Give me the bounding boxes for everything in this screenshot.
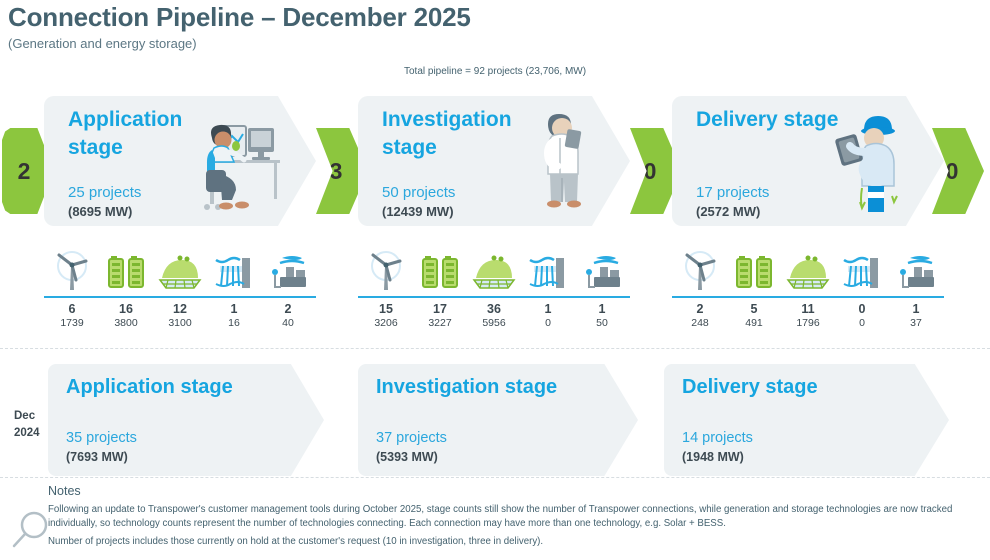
hydro-dam-icon <box>212 250 256 292</box>
tech-cell: 1 50 <box>580 302 624 329</box>
tech-count: 16 <box>104 302 148 316</box>
tech-count: 1 <box>894 302 938 316</box>
stage-card-investigation: Investigation stage 50 projects (12439 M… <box>358 96 630 226</box>
tech-count: 12 <box>158 302 202 316</box>
prior-title-investigation: Investigation stage <box>376 376 557 399</box>
tech-mw: 0 <box>526 317 570 329</box>
tech-mw: 40 <box>266 317 310 329</box>
tech-cell: 1 16 <box>212 302 256 329</box>
prior-projects-application: 35 projects <box>66 430 137 446</box>
stage-mw-delivery: (2572 MW) <box>696 204 760 219</box>
total-pipeline-label: Total pipeline = 92 projects (23,706, MW… <box>404 66 586 77</box>
chevron-delivery-complete: 0 <box>932 128 984 214</box>
page-subtitle: (Generation and energy storage) <box>8 36 197 51</box>
tech-count: 2 <box>266 302 310 316</box>
person-with-clipboard-icon <box>504 108 610 218</box>
stage-mw-investigation: (12439 MW) <box>382 204 454 219</box>
stage-projects-delivery: 17 projects <box>696 184 769 201</box>
section-divider-top <box>0 348 990 349</box>
technology-icons-investigation <box>358 248 630 292</box>
technology-rule <box>672 296 944 298</box>
tech-count: 2 <box>678 302 722 316</box>
tech-mw: 5956 <box>472 317 516 329</box>
tech-cell: 16 3800 <box>104 302 148 329</box>
prior-card-delivery: Delivery stage 14 projects (1948 MW) <box>664 364 949 476</box>
chevron-1-value: 3 <box>330 158 343 185</box>
stage-projects-investigation: 50 projects <box>382 184 455 201</box>
hydro-dam-icon <box>840 250 884 292</box>
tech-mw: 50 <box>580 317 624 329</box>
tech-count: 1 <box>580 302 624 316</box>
stage-card-application: Application stage 25 projects (8695 MW) <box>44 96 316 226</box>
tech-cell: 1 37 <box>894 302 938 329</box>
tech-count: 1 <box>526 302 570 316</box>
chevron-3-value: 0 <box>946 158 959 185</box>
prior-mw-investigation: (5393 MW) <box>376 450 438 464</box>
technology-row-investigation: 15 3206 17 3227 36 5956 1 0 1 50 <box>358 248 630 326</box>
technology-values-application: 6 1739 16 3800 12 3100 1 16 2 40 <box>44 302 316 329</box>
battery-storage-icon <box>732 250 776 292</box>
tech-cell: 0 0 <box>840 302 884 329</box>
prior-card-application: Application stage 35 projects (7693 MW) <box>48 364 324 476</box>
geothermal-plant-icon <box>894 250 938 292</box>
prior-mw-application: (7693 MW) <box>66 450 128 464</box>
prior-card-investigation: Investigation stage 37 projects (5393 MW… <box>358 364 638 476</box>
tech-count: 11 <box>786 302 830 316</box>
tech-mw: 3800 <box>104 317 148 329</box>
tech-cell: 12 3100 <box>158 302 202 329</box>
tech-cell: 1 0 <box>526 302 570 329</box>
technology-values-delivery: 2 248 5 491 11 1796 0 0 1 37 <box>672 302 944 329</box>
stage-mw-application: (8695 MW) <box>68 204 132 219</box>
tech-mw: 0 <box>840 317 884 329</box>
technology-values-investigation: 15 3206 17 3227 36 5956 1 0 1 50 <box>358 302 630 329</box>
notes-title: Notes <box>48 484 81 498</box>
section-divider-bottom <box>0 477 990 478</box>
tech-cell: 15 3206 <box>364 302 408 329</box>
hydro-dam-icon <box>526 250 570 292</box>
tech-mw: 37 <box>894 317 938 329</box>
solar-farm-icon <box>472 250 516 292</box>
tech-mw: 1739 <box>50 317 94 329</box>
tech-cell: 17 3227 <box>418 302 462 329</box>
tech-cell: 36 5956 <box>472 302 516 329</box>
tech-mw: 3100 <box>158 317 202 329</box>
tech-cell: 2 248 <box>678 302 722 329</box>
technology-rule <box>358 296 630 298</box>
solar-farm-icon <box>786 250 830 292</box>
geothermal-plant-icon <box>580 250 624 292</box>
technology-icons-delivery <box>672 248 944 292</box>
tech-mw: 491 <box>732 317 776 329</box>
magnifier-icon <box>8 508 52 552</box>
chevron-2-value: 0 <box>644 158 657 185</box>
prior-period-month: Dec <box>14 408 40 425</box>
prior-title-delivery: Delivery stage <box>682 376 818 399</box>
technology-row-delivery: 2 248 5 491 11 1796 0 0 1 37 <box>672 248 944 326</box>
tech-count: 1 <box>212 302 256 316</box>
pipeline-infographic: Connection Pipeline – December 2025 (Gen… <box>0 0 990 560</box>
stage-projects-application: 25 projects <box>68 184 141 201</box>
chevron-entry-value: 2 <box>18 158 31 185</box>
tech-cell: 11 1796 <box>786 302 830 329</box>
prior-period-year: 2024 <box>14 425 40 442</box>
battery-storage-icon <box>418 250 462 292</box>
wind-turbine-icon <box>678 250 722 292</box>
technology-icons-application <box>44 248 316 292</box>
battery-storage-icon <box>104 250 148 292</box>
geothermal-plant-icon <box>266 250 310 292</box>
wind-turbine-icon <box>50 250 94 292</box>
tech-mw: 3206 <box>364 317 408 329</box>
tech-count: 0 <box>840 302 884 316</box>
prior-period-label: Dec 2024 <box>14 408 40 443</box>
technology-row-application: 6 1739 16 3800 12 3100 1 16 2 40 <box>44 248 316 326</box>
tech-count: 6 <box>50 302 94 316</box>
prior-title-application: Application stage <box>66 376 233 399</box>
stage-card-delivery: Delivery stage 17 projects (2572 MW) <box>672 96 944 226</box>
person-at-desk-icon <box>190 108 296 218</box>
tech-count: 17 <box>418 302 462 316</box>
notes-line-1: Following an update to Transpower's cust… <box>48 503 978 531</box>
tech-cell: 6 1739 <box>50 302 94 329</box>
tech-count: 5 <box>732 302 776 316</box>
tech-mw: 248 <box>678 317 722 329</box>
page-title: Connection Pipeline – December 2025 <box>8 2 471 33</box>
tech-mw: 16 <box>212 317 256 329</box>
tech-mw: 1796 <box>786 317 830 329</box>
prior-mw-delivery: (1948 MW) <box>682 450 744 464</box>
worker-with-tablet-icon <box>818 108 924 218</box>
solar-farm-icon <box>158 250 202 292</box>
prior-projects-investigation: 37 projects <box>376 430 447 446</box>
prior-projects-delivery: 14 projects <box>682 430 753 446</box>
tech-mw: 3227 <box>418 317 462 329</box>
tech-cell: 5 491 <box>732 302 776 329</box>
tech-cell: 2 40 <box>266 302 310 329</box>
tech-count: 36 <box>472 302 516 316</box>
wind-turbine-icon <box>364 250 408 292</box>
technology-rule <box>44 296 316 298</box>
notes-line-2: Number of projects includes those curren… <box>48 535 978 549</box>
tech-count: 15 <box>364 302 408 316</box>
